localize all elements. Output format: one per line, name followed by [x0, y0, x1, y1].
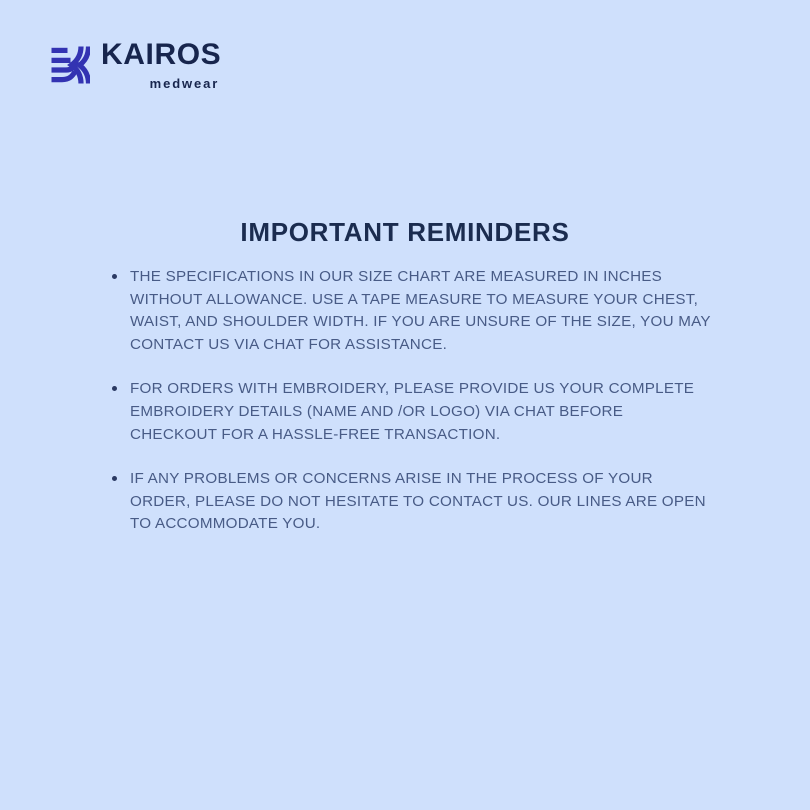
list-item: FOR ORDERS WITH EMBROIDERY, PLEASE PROVI… — [112, 378, 712, 446]
list-item-text: IF ANY PROBLEMS OR CONCERNS ARISE IN THE… — [130, 470, 706, 532]
list-item: IF ANY PROBLEMS OR CONCERNS ARISE IN THE… — [112, 468, 712, 536]
bullet-icon — [112, 274, 117, 279]
reminders-list: THE SPECIFICATIONS IN OUR SIZE CHART ARE… — [112, 266, 712, 536]
list-item: THE SPECIFICATIONS IN OUR SIZE CHART ARE… — [112, 266, 712, 356]
brand-tagline: medwear — [150, 77, 222, 90]
bullet-icon — [112, 386, 117, 391]
brand-logo: KAIROS medwear — [50, 40, 221, 90]
list-item-text: FOR ORDERS WITH EMBROIDERY, PLEASE PROVI… — [130, 380, 694, 442]
kairos-k-monogram-icon — [50, 45, 90, 85]
brand-name: KAIROS — [101, 40, 221, 70]
brand-wordmark: KAIROS medwear — [101, 40, 221, 90]
list-item-text: THE SPECIFICATIONS IN OUR SIZE CHART ARE… — [130, 268, 711, 353]
page-title: IMPORTANT REMINDERS — [0, 217, 810, 248]
bullet-icon — [112, 476, 117, 481]
